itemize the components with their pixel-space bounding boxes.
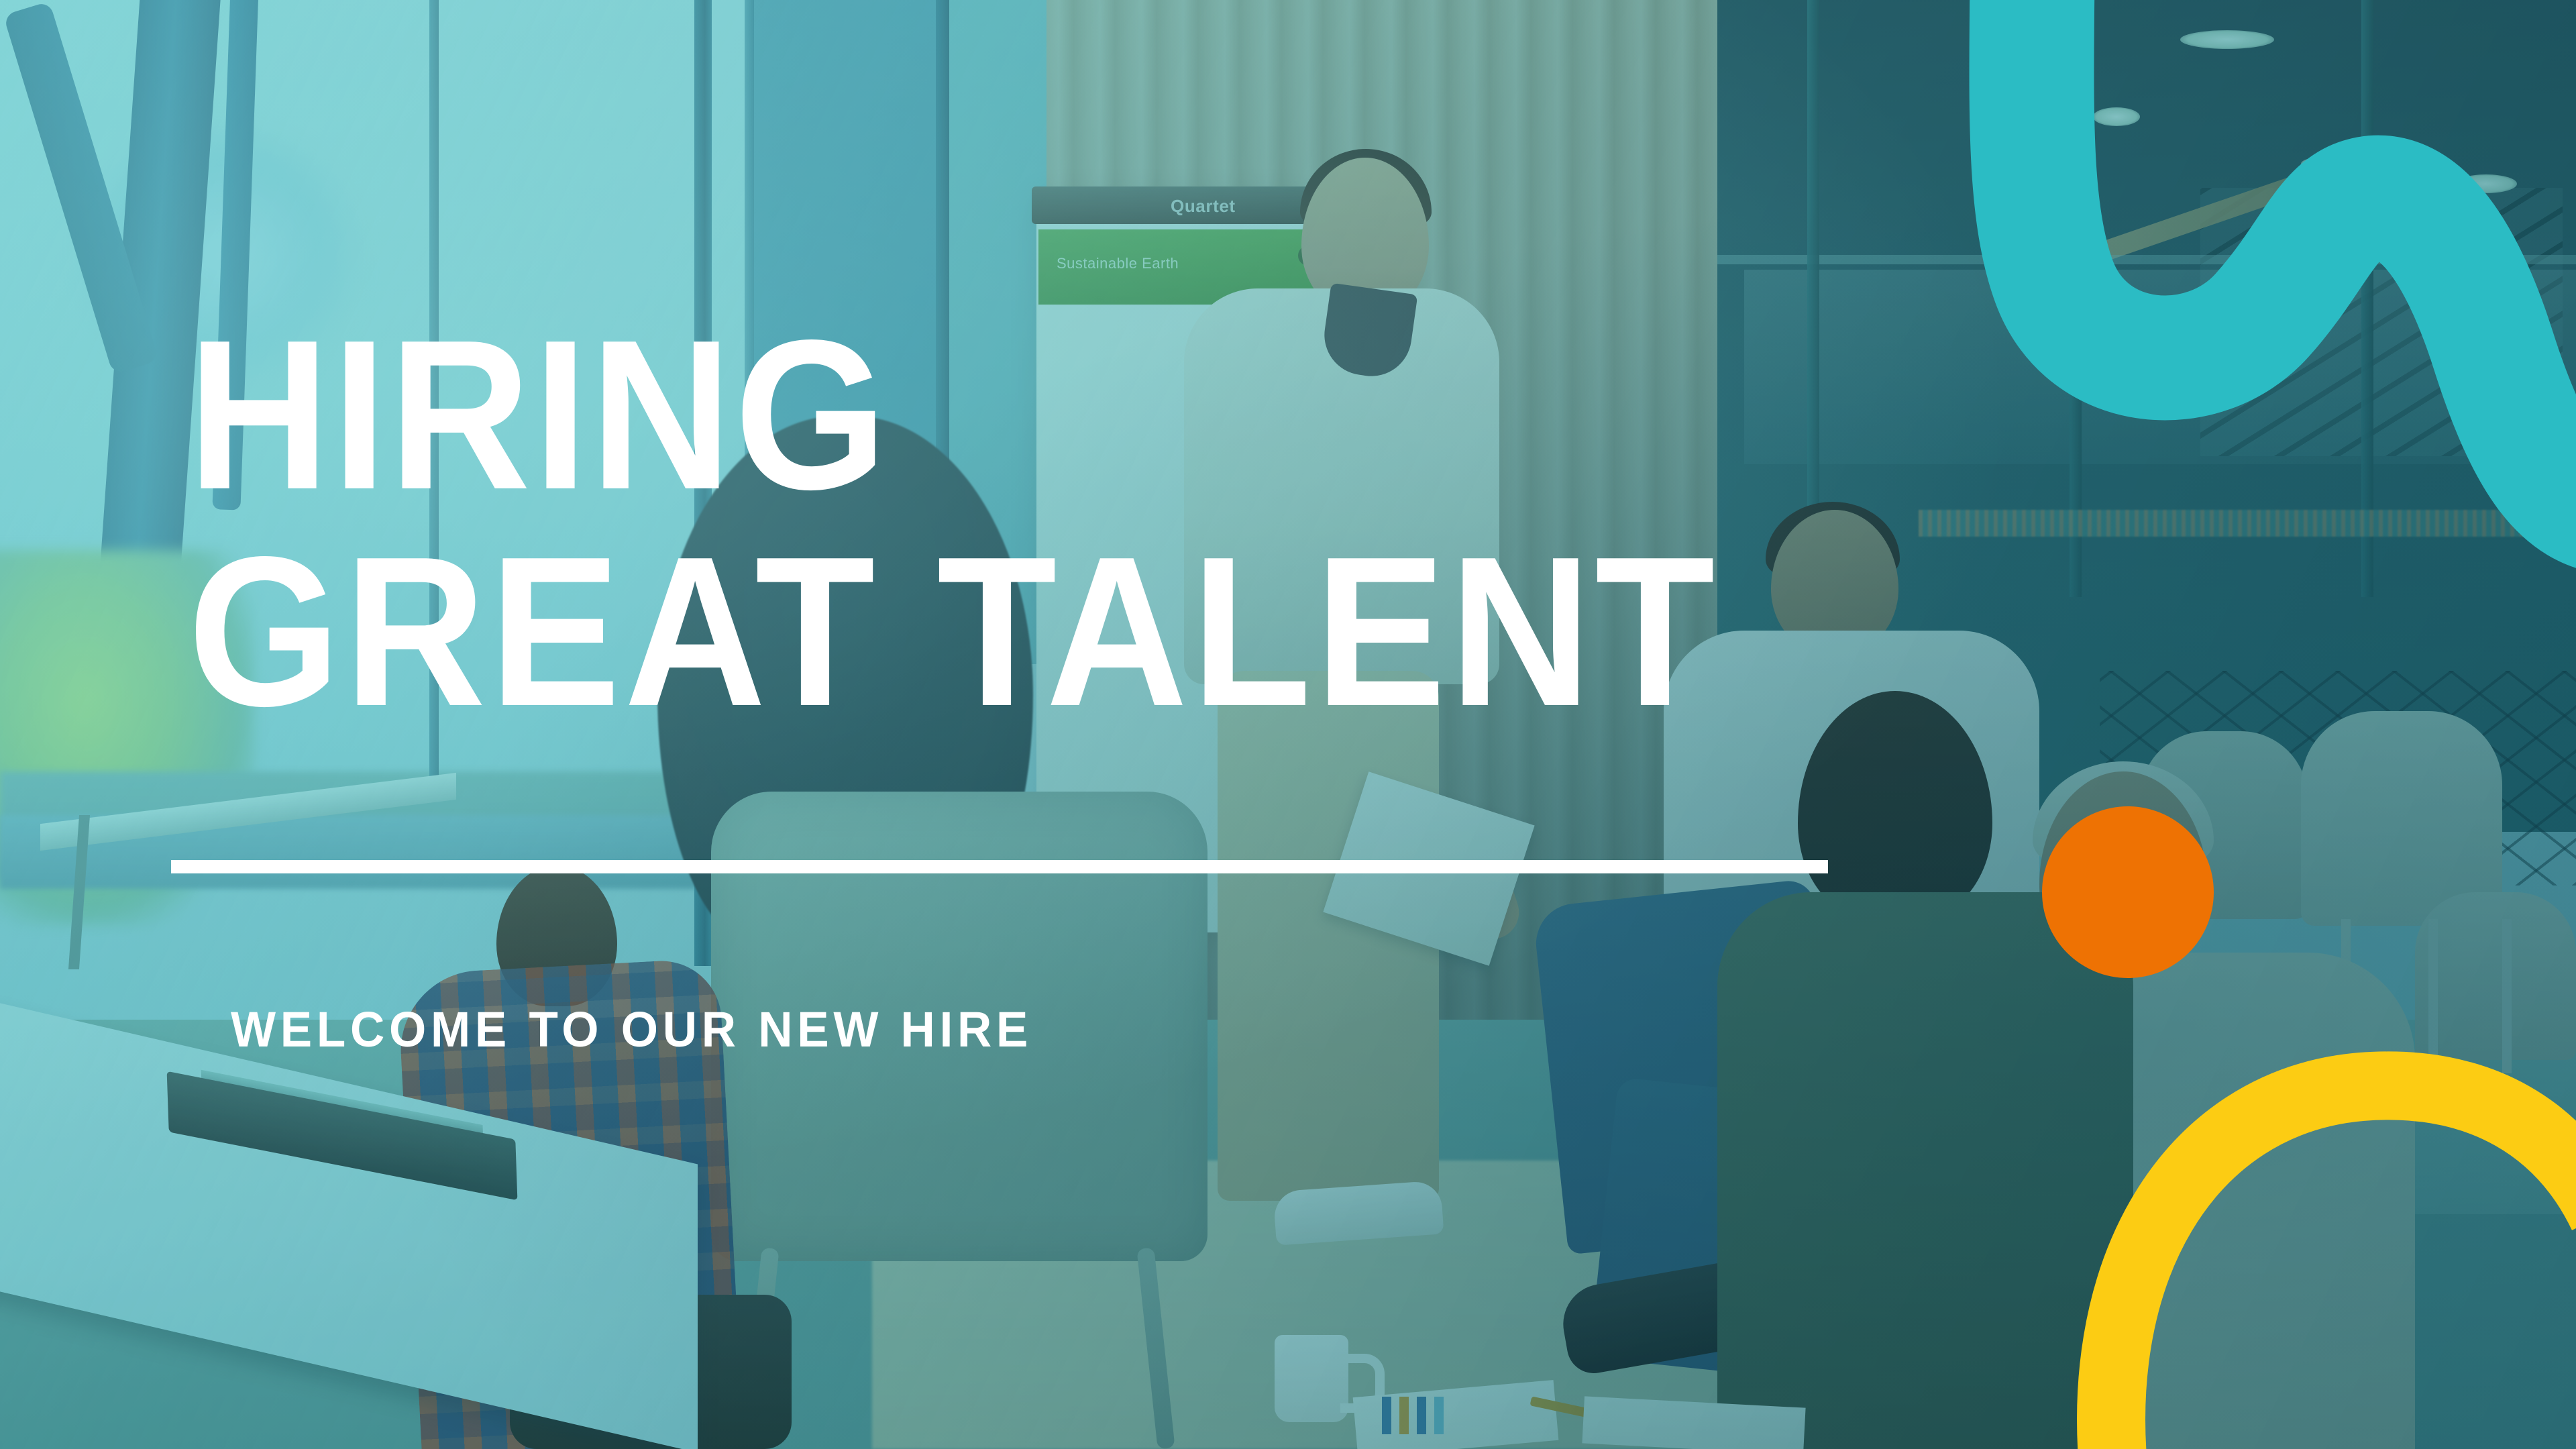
hiring-poster: Quartet Sustainable Earth <box>0 0 2576 1449</box>
headline-line-2: GREAT TALENT <box>188 532 1792 733</box>
subtitle: WELCOME TO OUR NEW HIRE <box>231 1001 1032 1058</box>
headline-block: HIRINGGREAT TALENT <box>188 315 1932 733</box>
divider-rule <box>171 860 1828 873</box>
page-title: HIRINGGREAT TALENT <box>188 315 1792 733</box>
headline-line-1: HIRING <box>188 315 1792 516</box>
